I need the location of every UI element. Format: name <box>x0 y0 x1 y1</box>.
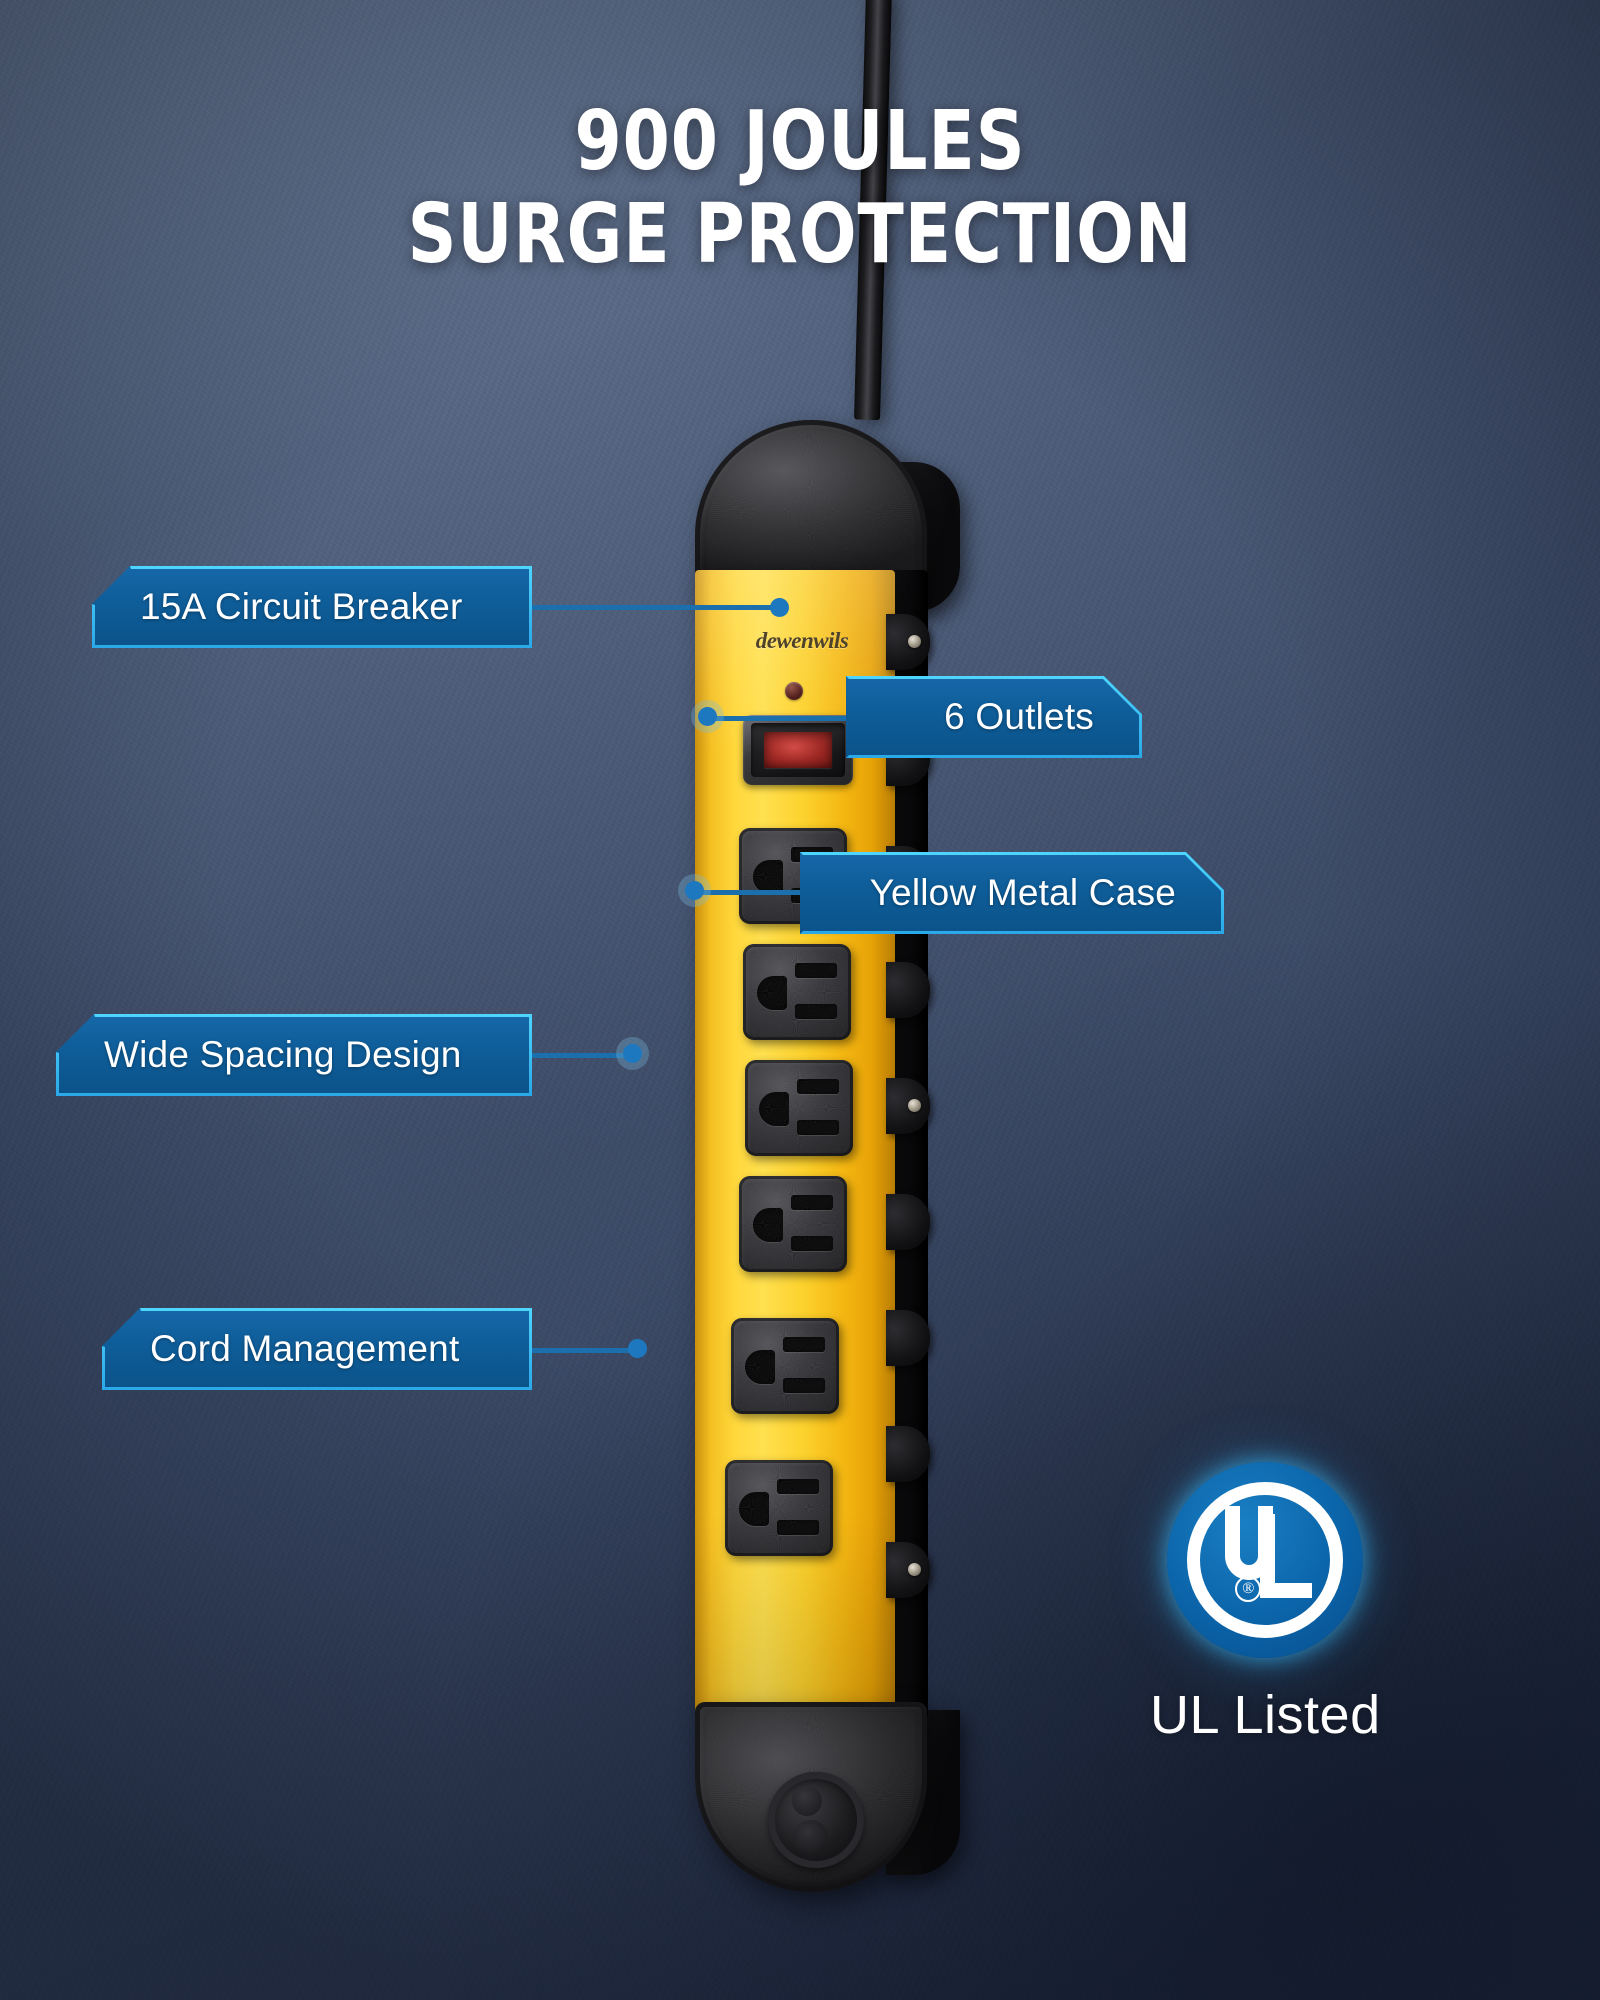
ul-mark-icon: ® <box>1167 1462 1363 1658</box>
outlet-3 <box>745 1060 853 1156</box>
blade-slot-bottom <box>791 1236 833 1251</box>
headline-line-2: SURGE PROTECTION <box>64 188 1536 282</box>
blade-slot-bottom <box>783 1378 825 1393</box>
outlet-5 <box>731 1318 839 1414</box>
blade-slot-top <box>783 1337 825 1352</box>
callout-label: 15A Circuit Breaker <box>140 586 463 628</box>
ul-letters: ® <box>1167 1462 1363 1658</box>
blade-slot-top <box>777 1479 819 1494</box>
outlet-4 <box>739 1176 847 1272</box>
registered-trademark-icon: ® <box>1235 1576 1261 1602</box>
leader-line-cord-management <box>528 1348 638 1353</box>
anchor-dot-metal-case <box>685 881 704 900</box>
callout-circuit-breaker[interactable]: 15A Circuit Breaker <box>92 566 532 648</box>
screw-icon <box>908 1099 921 1112</box>
callout-label: 6 Outlets <box>944 696 1094 738</box>
power-strip-product: dewenwils <box>690 420 960 1840</box>
ground-hole <box>753 860 783 894</box>
cord-management-recess <box>768 1772 864 1868</box>
callout-label: Yellow Metal Case <box>870 872 1176 914</box>
blade-slot-bottom <box>777 1520 819 1535</box>
callout-wide-spacing[interactable]: Wide Spacing Design <box>56 1014 532 1096</box>
ground-hole <box>753 1208 783 1242</box>
ground-hole <box>759 1092 789 1126</box>
ul-certification: ® UL Listed <box>1150 1462 1381 1746</box>
outlet-2 <box>743 944 851 1040</box>
callout-metal-case[interactable]: Yellow Metal Case <box>800 852 1224 934</box>
callout-label: Cord Management <box>150 1328 459 1370</box>
leader-line-circuit-breaker <box>530 605 780 610</box>
screw-icon <box>908 635 921 648</box>
anchor-dot-wide-spacing <box>623 1044 642 1063</box>
callout-cord-management[interactable]: Cord Management <box>102 1308 532 1390</box>
blade-slot-bottom <box>795 1004 837 1019</box>
ground-hole <box>745 1350 775 1384</box>
leader-line-outlets <box>710 716 850 721</box>
ul-letter-l <box>1260 1514 1312 1598</box>
leader-line-metal-case <box>700 890 810 895</box>
ground-hole <box>757 976 787 1010</box>
blade-slot-top <box>791 1195 833 1210</box>
switch-bezel <box>751 723 845 777</box>
brand-logo: dewenwils <box>727 628 877 654</box>
callout-label: Wide Spacing Design <box>104 1034 462 1076</box>
circuit-breaker-switch[interactable] <box>743 715 853 785</box>
headline-line-1: 900 JOULES <box>64 96 1536 188</box>
ground-hole <box>739 1492 769 1526</box>
power-led-indicator <box>785 682 803 700</box>
anchor-dot-cord-management <box>628 1339 647 1358</box>
blade-slot-top <box>797 1079 839 1094</box>
callout-outlets[interactable]: 6 Outlets <box>846 676 1142 758</box>
page-title: 900 JOULES SURGE PROTECTION <box>0 96 1600 282</box>
blade-slot-bottom <box>797 1120 839 1135</box>
rocker-illuminated[interactable] <box>764 732 832 769</box>
ul-listed-label: UL Listed <box>1150 1684 1381 1746</box>
anchor-dot-circuit-breaker <box>770 598 789 617</box>
blade-slot-top <box>795 963 837 978</box>
anchor-dot-outlets <box>698 707 717 726</box>
outlet-6 <box>725 1460 833 1556</box>
screw-icon <box>908 1563 921 1576</box>
